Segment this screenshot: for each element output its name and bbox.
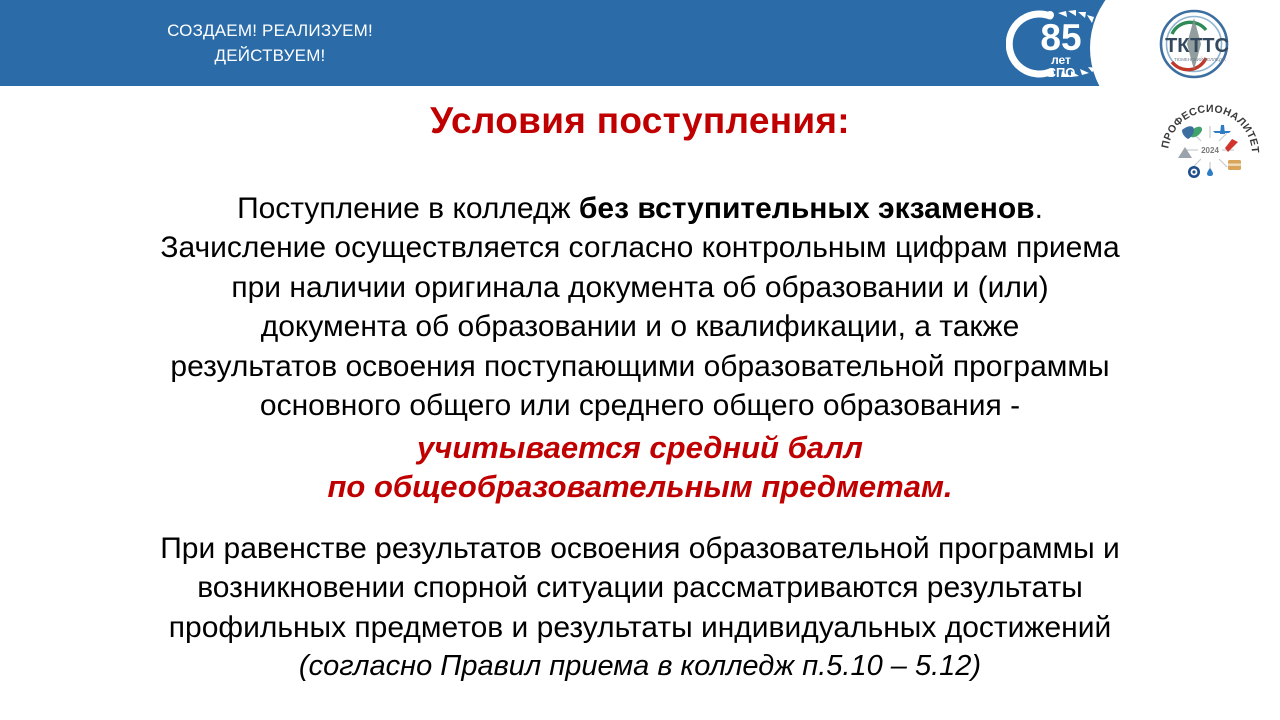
page-title: Условия поступления:	[0, 99, 1280, 143]
slide: СОЗДАЕМ! РЕАЛИЗУЕМ! ДЕЙСТВУЕМ!	[0, 0, 1280, 720]
admission-conditions-paragraph: Поступление в колледж без вступительных …	[0, 149, 1280, 426]
slide-content: Условия поступления: Поступление в колле…	[0, 86, 1280, 685]
svg-text:СПО: СПО	[1047, 65, 1076, 80]
svg-text:ТЮМЕНСКИЙ КОЛЛЕДЖ: ТЮМЕНСКИЙ КОЛЛЕДЖ	[1174, 57, 1226, 62]
rules-reference-note: (согласно Правил приема в колледж п.5.10…	[0, 647, 1280, 685]
header-slogan: СОЗДАЕМ! РЕАЛИЗУЕМ! ДЕЙСТВУЕМ!	[40, 18, 500, 68]
svg-text:85: 85	[1040, 17, 1081, 58]
average-score-emphasis: учитывается средний балл по общеобразова…	[0, 428, 1280, 506]
tkttc-logo: ТКТТС ТЮМЕНСКИЙ КОЛЛЕДЖ	[1148, 2, 1240, 86]
svg-text:ТКТТС: ТКТТС	[1165, 35, 1229, 57]
no-exams-line: Поступление в колледж без вступительных …	[62, 189, 1218, 229]
paragraph-1-suffix: .	[1035, 192, 1043, 225]
paragraph-1-rest: Зачисление осуществляется согласно контр…	[160, 231, 1119, 422]
tie-break-paragraph: При равенстве результатов освоения образ…	[0, 529, 1280, 648]
paragraph-1-prefix: Поступление в колледж	[237, 192, 579, 225]
anniversary-85-logo: 85 лет СПО	[1006, 6, 1124, 82]
no-exams-emphasis: без вступительных экзаменов	[579, 192, 1035, 225]
